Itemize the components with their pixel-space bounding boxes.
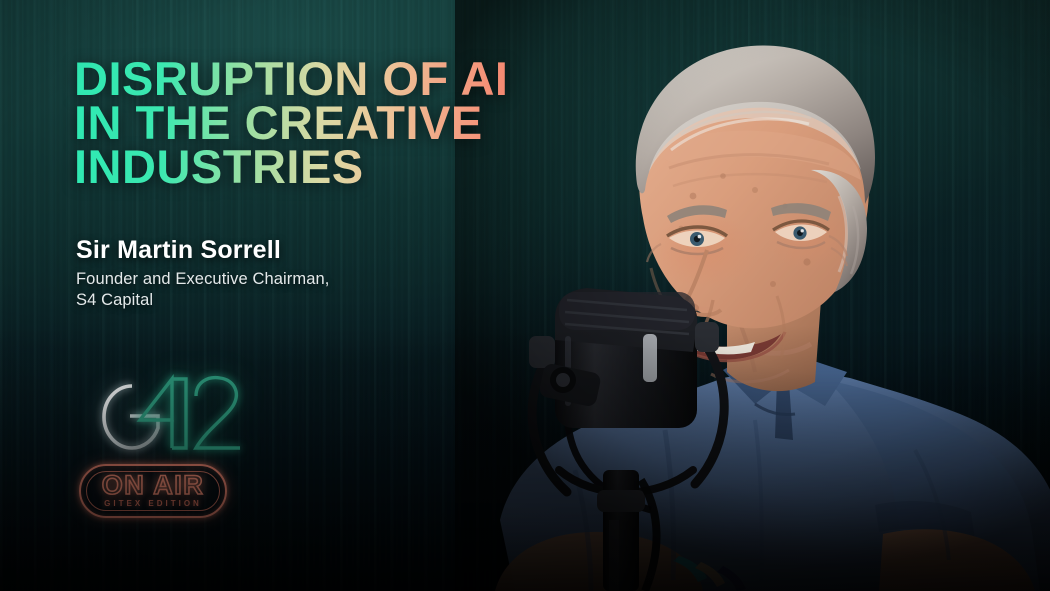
speaker-credit: Sir Martin Sorrell Founder and Executive…: [76, 236, 329, 311]
brand-logo: ON AIR GITEX EDITION: [72, 366, 252, 526]
mic-stand-clamp: [597, 490, 645, 512]
speaker-role-line-2: S4 Capital: [76, 290, 329, 311]
slide-canvas: DISRUPTION OF AI IN THE CREATIVE INDUSTR…: [0, 0, 1050, 591]
title-line-2: IN THE CREATIVE: [74, 101, 674, 145]
title-line-3: INDUSTRIES: [74, 145, 674, 189]
mic-highlight: [643, 334, 657, 382]
mic-stand-shaft: [603, 470, 639, 591]
on-air-badge: ON AIR GITEX EDITION: [79, 464, 227, 518]
speaker-role-line-1: Founder and Executive Chairman,: [76, 269, 329, 290]
g42-logo-mark: [72, 366, 242, 456]
logo-letter-g: [104, 386, 158, 448]
page-title: DISRUPTION OF AI IN THE CREATIVE INDUSTR…: [74, 57, 674, 189]
speaker-name: Sir Martin Sorrell: [76, 236, 329, 265]
title-line-1: DISRUPTION OF AI: [74, 57, 674, 101]
gitex-edition-label: GITEX EDITION: [104, 499, 202, 508]
on-air-label: ON AIR: [102, 472, 205, 498]
mic-knob-left: [529, 336, 555, 368]
mic-knob-right: [695, 322, 719, 352]
